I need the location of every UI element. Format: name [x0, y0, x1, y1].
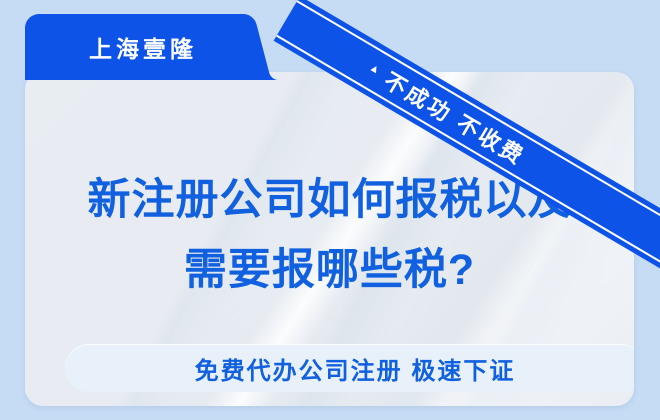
cta-button-label: 免费代办公司注册 极速下证	[195, 351, 516, 386]
promo-poster: 新注册公司如何报税以及 需要报哪些税? 免费代办公司注册 极速下证 上海壹隆 ▲…	[0, 0, 660, 420]
cta-button[interactable]: 免费代办公司注册 极速下证	[65, 344, 634, 392]
brand-tab[interactable]: 上海壹隆	[25, 14, 293, 80]
headline-line-2: 需要报哪些税?	[25, 236, 634, 306]
triangle-up-icon: ▲	[367, 62, 382, 77]
brand-tab-label: 上海壹隆	[25, 14, 257, 80]
content-card: 新注册公司如何报税以及 需要报哪些税? 免费代办公司注册 极速下证	[25, 72, 634, 406]
